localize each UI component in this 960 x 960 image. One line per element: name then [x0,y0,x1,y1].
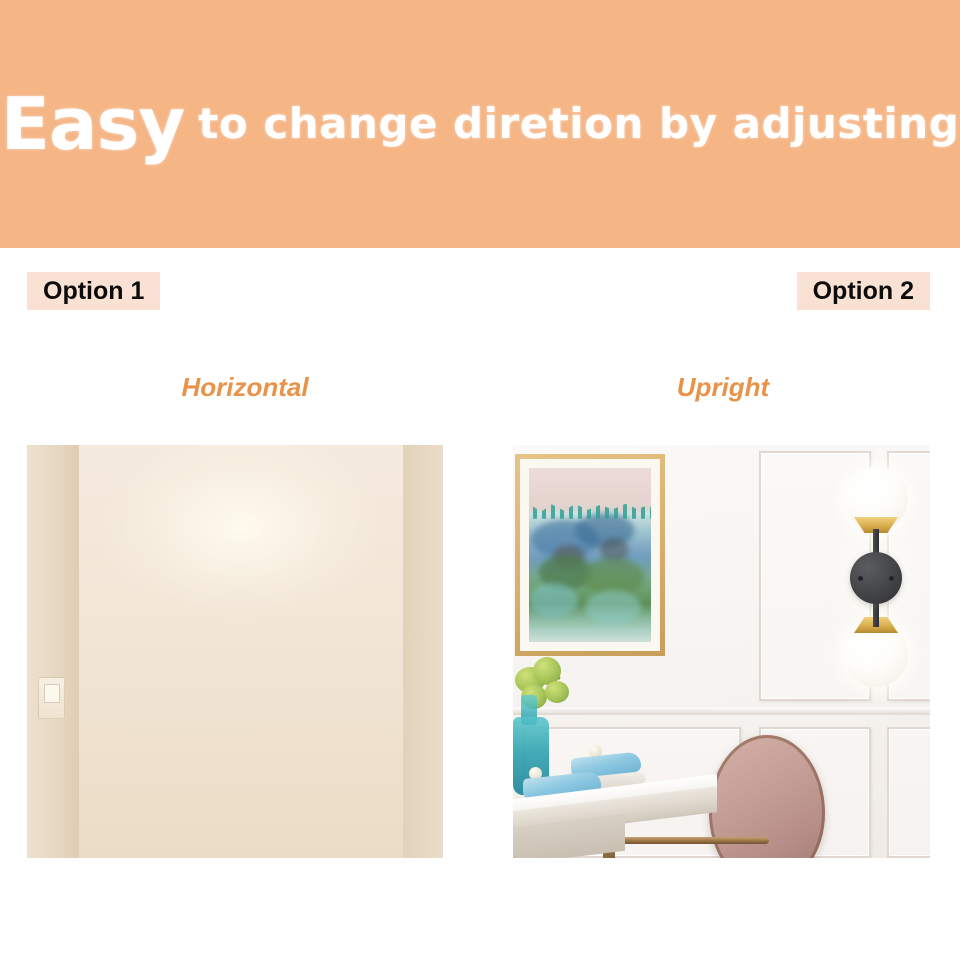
wall-moulding-panel [887,727,930,858]
header-banner: Easy to change diretion by adjusting [0,0,960,248]
bathroom-wall-right-return [403,445,443,858]
framed-artwork [515,454,665,656]
chair-rail-moulding [513,707,930,715]
option-2-sub-label: Upright [513,372,933,403]
greenery-sprig [545,681,569,703]
option-1-photo: Beige bathroom niche with a horizontally… [27,445,443,858]
infographic-page: Easy to change diretion by adjusting Opt… [0,0,960,960]
option-2-tag-label: Option 2 [813,279,914,304]
headline-emphasis: Easy [1,88,185,160]
screw-icon-left [858,576,863,581]
round-backplate-icon [850,552,902,604]
headline-rest: to change diretion by adjusting [198,103,959,145]
option-1-tag-label: Option 1 [43,279,144,304]
bathroom-niche-wall [79,445,403,858]
option-2-tag: Option 2 [797,272,930,310]
artwork-mat [520,459,660,651]
option-2-photo: White panelled dining room with a vertic… [513,445,930,858]
header-text: Easy to change diretion by adjusting [0,0,960,248]
option-1-tag: Option 1 [27,272,160,310]
sconce-arm-bottom [873,601,879,627]
option-1-sub-label: Horizontal [35,372,455,403]
artwork-peaks [529,503,651,519]
bathroom-wall-left-return [27,445,79,858]
light-switch-icon [38,677,65,719]
artwork-canvas [529,468,651,642]
artwork-wash [585,590,641,625]
screw-icon-right [889,576,894,581]
artwork-wash [529,583,578,618]
